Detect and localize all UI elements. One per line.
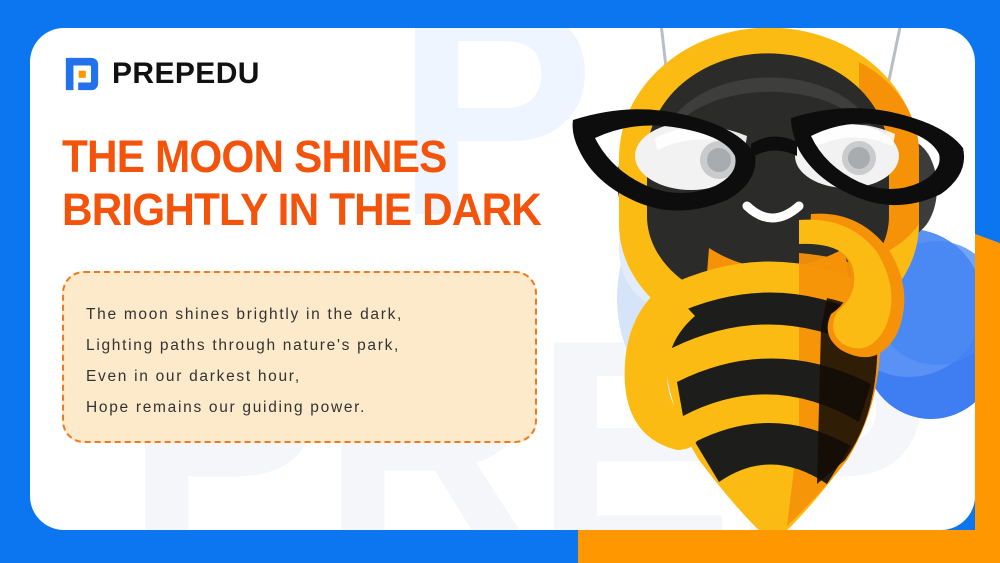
page-title-line-1: THE MOON SHINES <box>62 130 588 183</box>
content-card: P PREP PREPEDU THE MOON SHINES BRIGHTLY … <box>30 28 975 530</box>
poem-line-1: The moon shines brightly in the dark, <box>86 299 535 330</box>
poem-line-3: Even in our darkest hour, <box>86 361 535 392</box>
poem-line-2: Lighting paths through nature's park, <box>86 330 535 361</box>
brand-logo[interactable]: PREPEDU <box>63 55 260 93</box>
page-title: THE MOON SHINES BRIGHTLY IN THE DARK <box>62 130 622 236</box>
poem-box: The moon shines brightly in the dark, Li… <box>62 271 537 443</box>
poem-line-4: Hope remains our guiding power. <box>86 392 535 423</box>
brand-name: PREPEDU <box>112 57 260 91</box>
page-title-line-2: BRIGHTLY IN THE DARK <box>62 183 588 236</box>
poster-frame: P PREP PREPEDU THE MOON SHINES BRIGHTLY … <box>0 0 1000 563</box>
frame-accent-right <box>975 250 1000 563</box>
bee-mascot-icon <box>559 28 975 530</box>
prepedu-p-logo-icon <box>63 55 101 93</box>
bee-body <box>662 253 881 530</box>
bee-mascot-illustration <box>559 28 975 530</box>
frame-accent-bottom <box>578 530 1000 563</box>
frame-accent-diagonal <box>975 228 1000 258</box>
